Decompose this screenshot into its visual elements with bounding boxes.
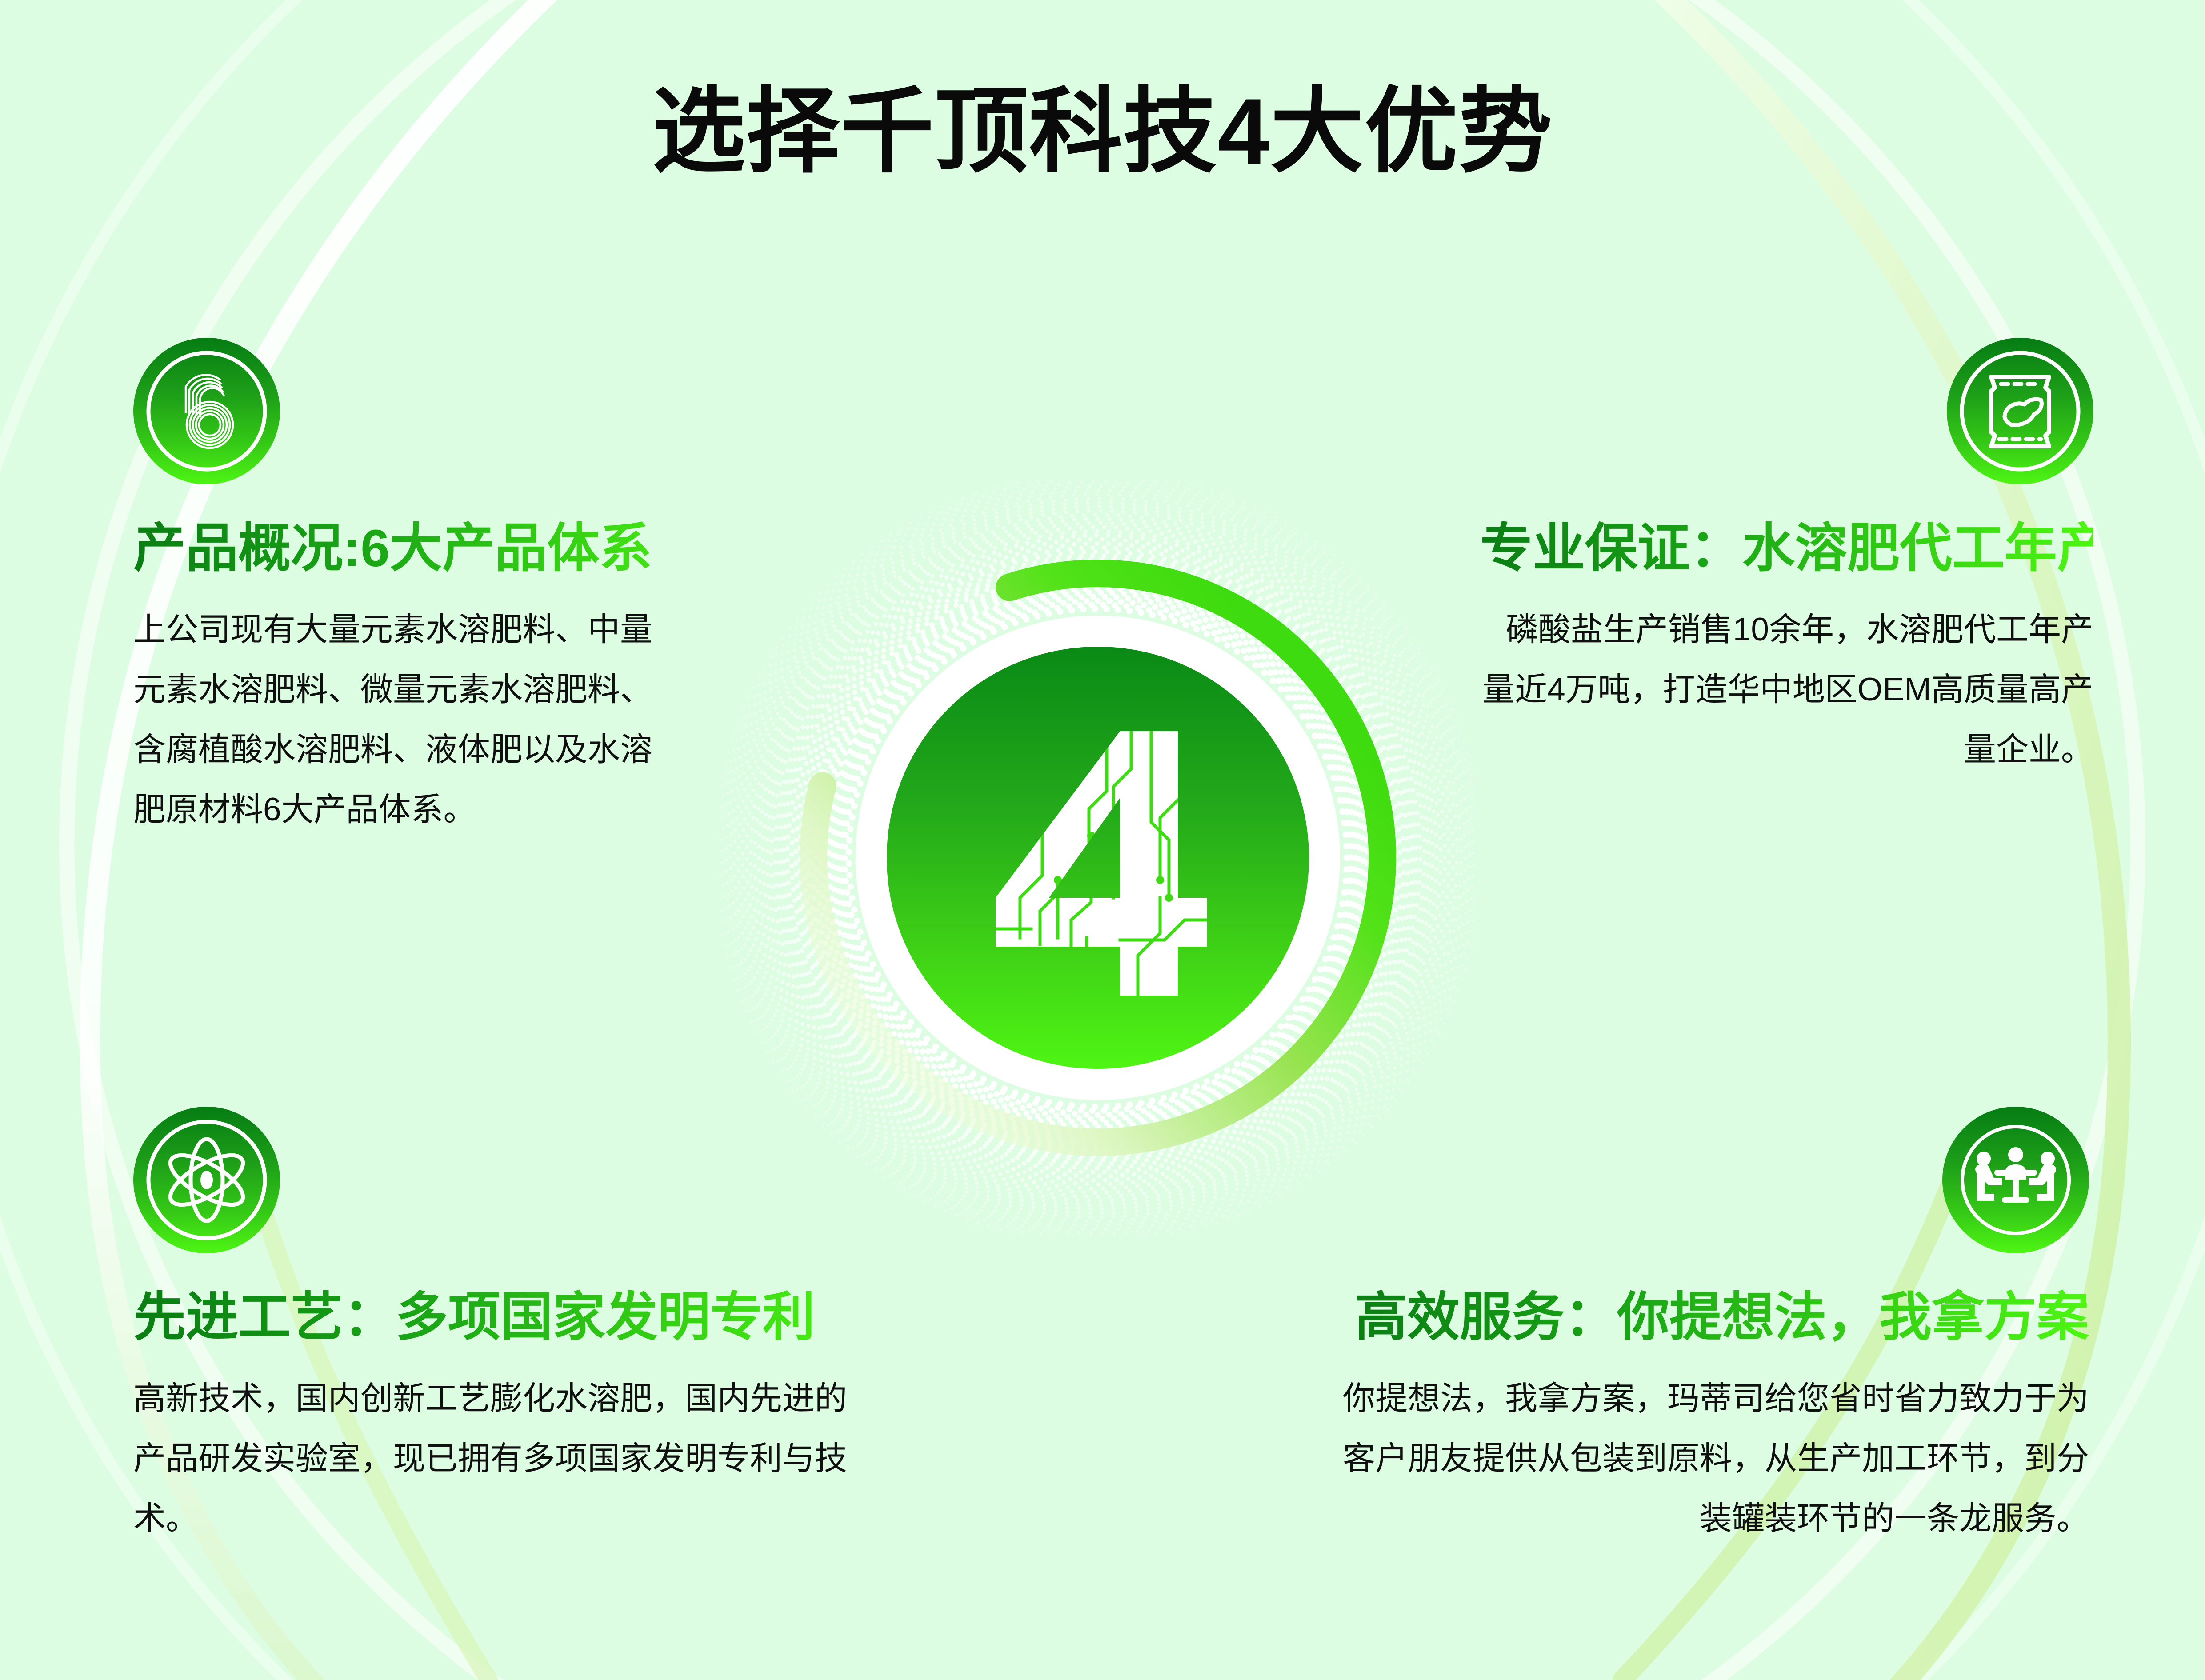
meeting-table-icon [1942, 1107, 2089, 1253]
card-heading: 先进工艺：多项国家发明专利 [133, 1288, 889, 1348]
poster-canvas: 选择千顶科技4大优势 [0, 0, 2205, 1680]
card-heading: 高效服务：你提想法，我拿方案 [1342, 1288, 2089, 1348]
card-body: 高新技术，国内创新工艺膨化水溶肥，国内先进的产品研发实验室，现已拥有多项国家发明… [133, 1368, 862, 1548]
advantage-card-bottom-left: 先进工艺：多项国家发明专利 高新技术，国内创新工艺膨化水溶肥，国内先进的产品研发… [133, 1107, 889, 1548]
card-body: 上公司现有大量元素水溶肥料、中量元素水溶肥料、微量元素水溶肥料、含腐植酸水溶肥料… [133, 600, 667, 840]
circuit-number-four-icon [929, 689, 1267, 1027]
fertilizer-bag-icon [1947, 338, 2093, 484]
advantage-card-bottom-right: 高效服务：你提想法，我拿方案 你提想法，我拿方案，玛蒂司给您省时省力致力于为客户… [1342, 1107, 2089, 1548]
atom-icon [133, 1107, 280, 1253]
card-body: 磷酸盐生产销售10余年，水溶肥代工年产量近4万吨，打造华中地区OEM高质量高产量… [1480, 600, 2093, 780]
card-body: 你提想法，我拿方案，玛蒂司给您省时省力致力于为客户朋友提供从包装到原料，从生产加… [1342, 1368, 2089, 1548]
advantage-card-top-right: 专业保证：水溶肥代工年产量近4万吨 磷酸盐生产销售10余年，水溶肥代工年产量近4… [1480, 338, 2093, 780]
card-heading: 产品概况:6大产品体系 [133, 519, 742, 579]
page-title: 选择千顶科技4大优势 [0, 80, 2205, 183]
advantage-card-top-left: 产品概况:6大产品体系 上公司现有大量元素水溶肥料、中量元素水溶肥料、微量元素水… [133, 338, 742, 840]
card-heading: 专业保证：水溶肥代工年产量近4万吨 [1480, 519, 2093, 579]
six-rings-icon [133, 338, 280, 484]
center-core-circle [887, 647, 1309, 1069]
